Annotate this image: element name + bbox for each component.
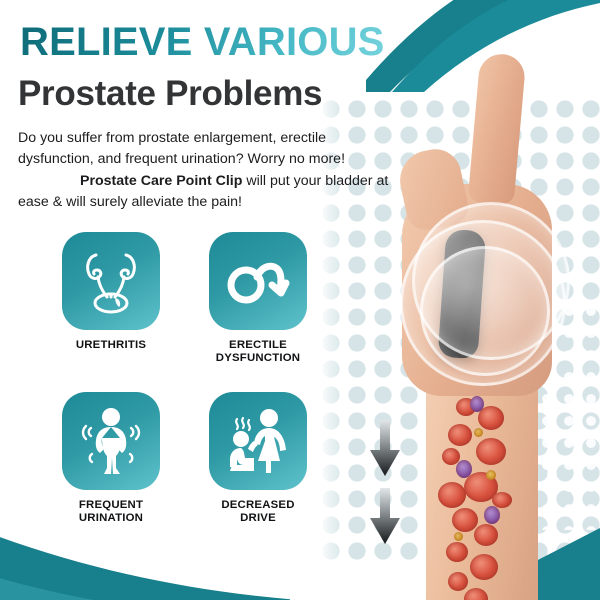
couple-low-libido-icon <box>224 407 292 475</box>
benefit-tile-decreased-drive: DECREASEDDRIVE <box>199 392 317 526</box>
male-symbol-drooping-arrow-icon <box>226 255 290 307</box>
advertisement-poster: RELIEVE VARIOUS Prostate Problems Do you… <box>0 0 600 600</box>
benefit-tile-urethritis: URETHRITIS <box>52 232 170 352</box>
body-copy: Do you suffer from prostate enlargement,… <box>18 128 390 213</box>
body-line-1: Do you suffer from prostate enlargement,… <box>18 130 326 146</box>
benefit-icon-tile <box>209 232 307 330</box>
pulse-ring-icon <box>420 246 550 376</box>
product-photo-hand <box>382 34 600 600</box>
benefit-icon-tile <box>209 392 307 490</box>
benefit-label: URETHRITIS <box>52 339 170 352</box>
benefit-label: ERECTILEDYSFUNCTION <box>199 339 317 366</box>
down-arrow-icon <box>368 420 402 478</box>
benefit-icon-tile <box>62 392 160 490</box>
benefit-label: FREQUENTURINATION <box>52 499 170 526</box>
headline-secondary: Prostate Problems <box>18 76 322 111</box>
down-arrow-icon <box>368 488 402 546</box>
benefit-tile-erectile-dysfunction: ERECTILEDYSFUNCTION <box>199 232 317 366</box>
benefit-label: DECREASEDDRIVE <box>199 499 317 526</box>
benefit-tile-frequent-urination: FREQUENTURINATION <box>52 392 170 526</box>
body-line-2: dysfunction, and frequent urination? Wor… <box>18 151 345 167</box>
kidney-bladder-icon <box>80 248 142 314</box>
person-holding-bladder-icon <box>80 406 142 476</box>
benefit-icon-tile <box>62 232 160 330</box>
index-finger <box>468 52 527 205</box>
product-name: Prostate Care Point Clip <box>80 173 242 189</box>
body-line-3: will put your bladder <box>242 173 372 189</box>
headline-primary: RELIEVE VARIOUS <box>20 22 385 62</box>
blood-cell-stream <box>430 396 540 600</box>
